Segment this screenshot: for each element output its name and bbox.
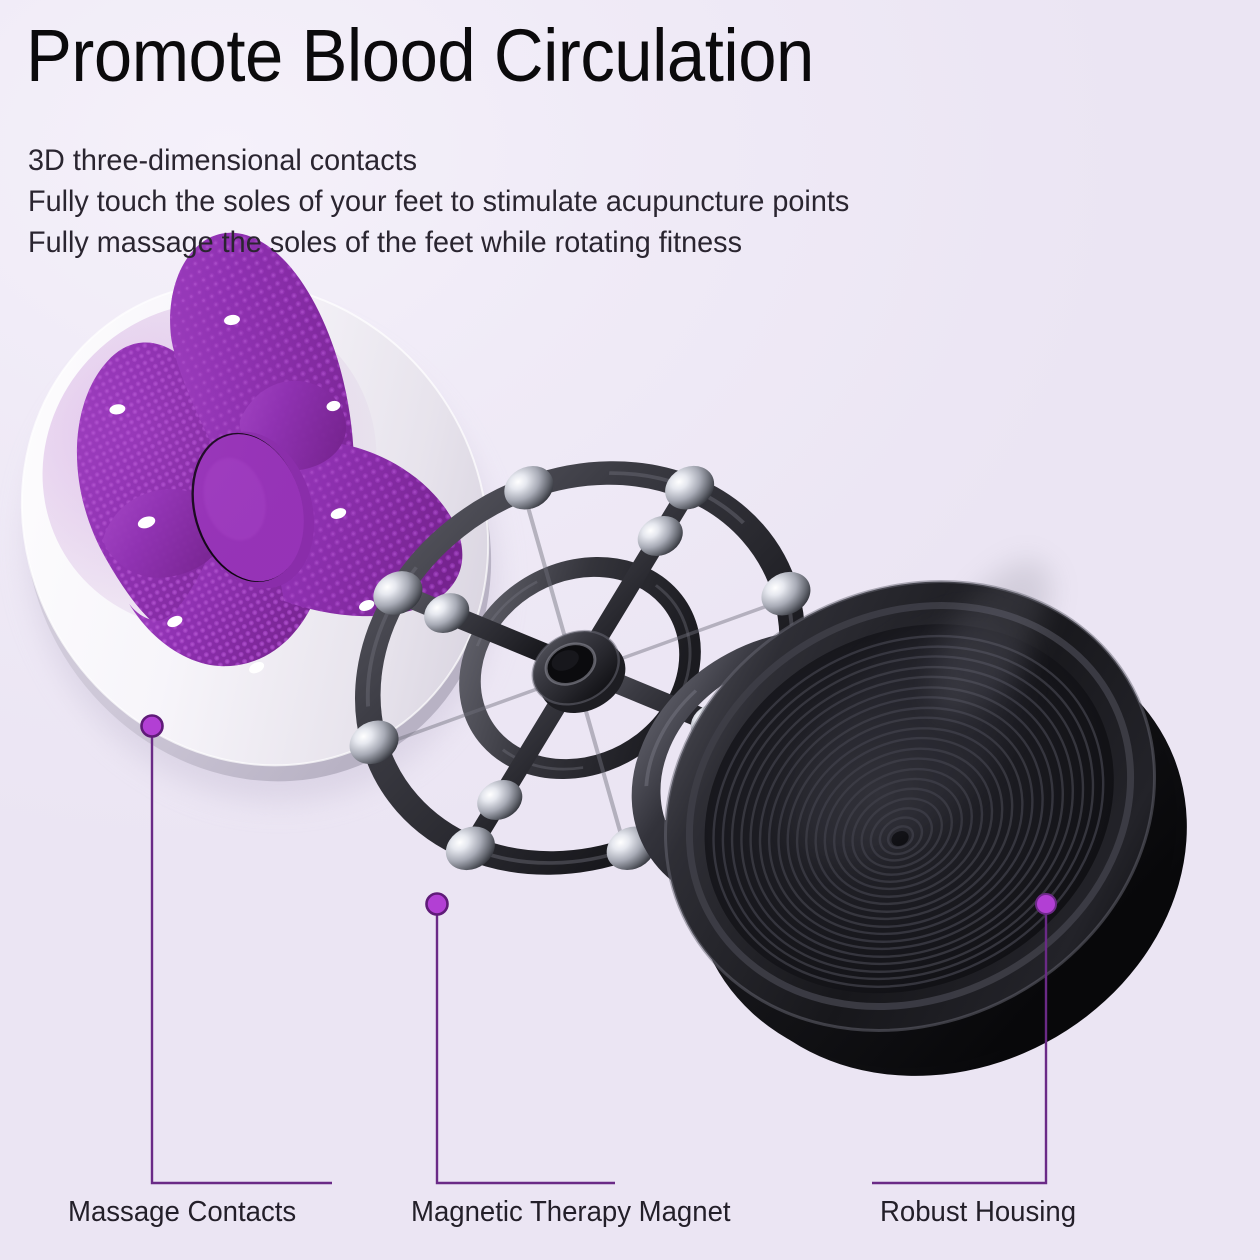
- cage-hub: [524, 618, 634, 726]
- callout-label-robust-housing: Robust Housing: [880, 1196, 1076, 1229]
- infographic-page: Promote Blood Circulation 3D three-dimen…: [0, 0, 1260, 1260]
- callout-label-massage-contacts: Massage Contacts: [68, 1196, 296, 1229]
- subheading-block: 3D three-dimensional contacts Fully touc…: [28, 140, 849, 263]
- subheading-line-2: Fully touch the soles of your feet to st…: [28, 181, 849, 222]
- subheading-line-1: 3D three-dimensional contacts: [28, 140, 849, 181]
- page-title: Promote Blood Circulation: [26, 14, 814, 98]
- housing-part: [586, 497, 1260, 1163]
- subheading-line-3: Fully massage the soles of the feet whil…: [28, 222, 849, 263]
- callout-label-magnetic-therapy-magnet: Magnetic Therapy Magnet: [411, 1196, 731, 1229]
